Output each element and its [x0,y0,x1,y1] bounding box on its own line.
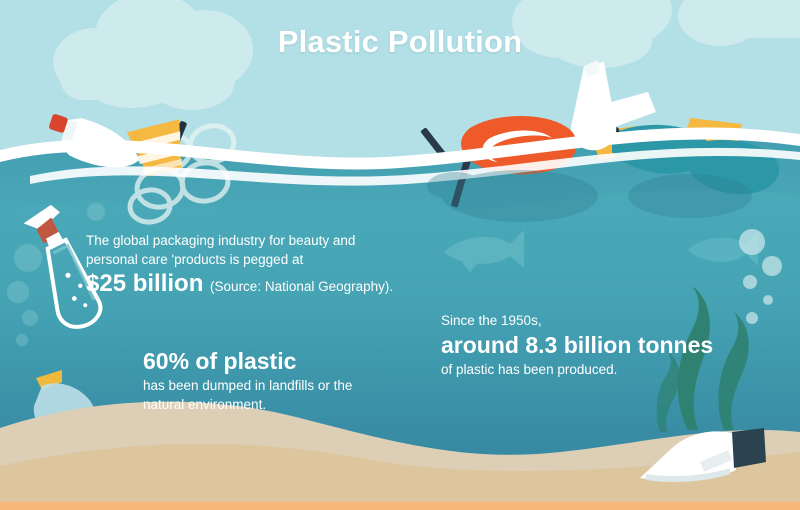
stat-dumped-highlight: 60% of plastic [143,346,433,376]
stat-dumped: 60% of plastic has been dumped in landfi… [143,346,433,414]
stat-since-1950s: Since the 1950s, around 8.3 billion tonn… [441,311,741,379]
stat-packaging-line2: personal care 'products is pegged at [86,250,416,269]
stat-dumped-line2: natural environment. [143,395,433,414]
stat-since-line1: Since the 1950s, [441,311,741,330]
stat-dumped-line1: has been dumped in landfills or the [143,376,433,395]
stat-packaging-highlight-row: $25 billion (Source: National Geography)… [86,269,416,302]
stat-since-line2: of plastic has been produced. [441,360,741,379]
page-title: Plastic Pollution [0,24,800,60]
stat-packaging-highlight: $25 billion [86,270,203,297]
stat-since-highlight: around 8.3 billion tonnes [441,330,741,360]
stat-packaging: The global packaging industry for beauty… [86,231,416,302]
sand-edge [0,502,800,510]
stat-packaging-line1: The global packaging industry for beauty… [86,231,416,250]
stat-packaging-source: (Source: National Geography). [210,279,393,294]
infographic-poster: Plastic Pollution The global packaging i… [0,0,800,510]
